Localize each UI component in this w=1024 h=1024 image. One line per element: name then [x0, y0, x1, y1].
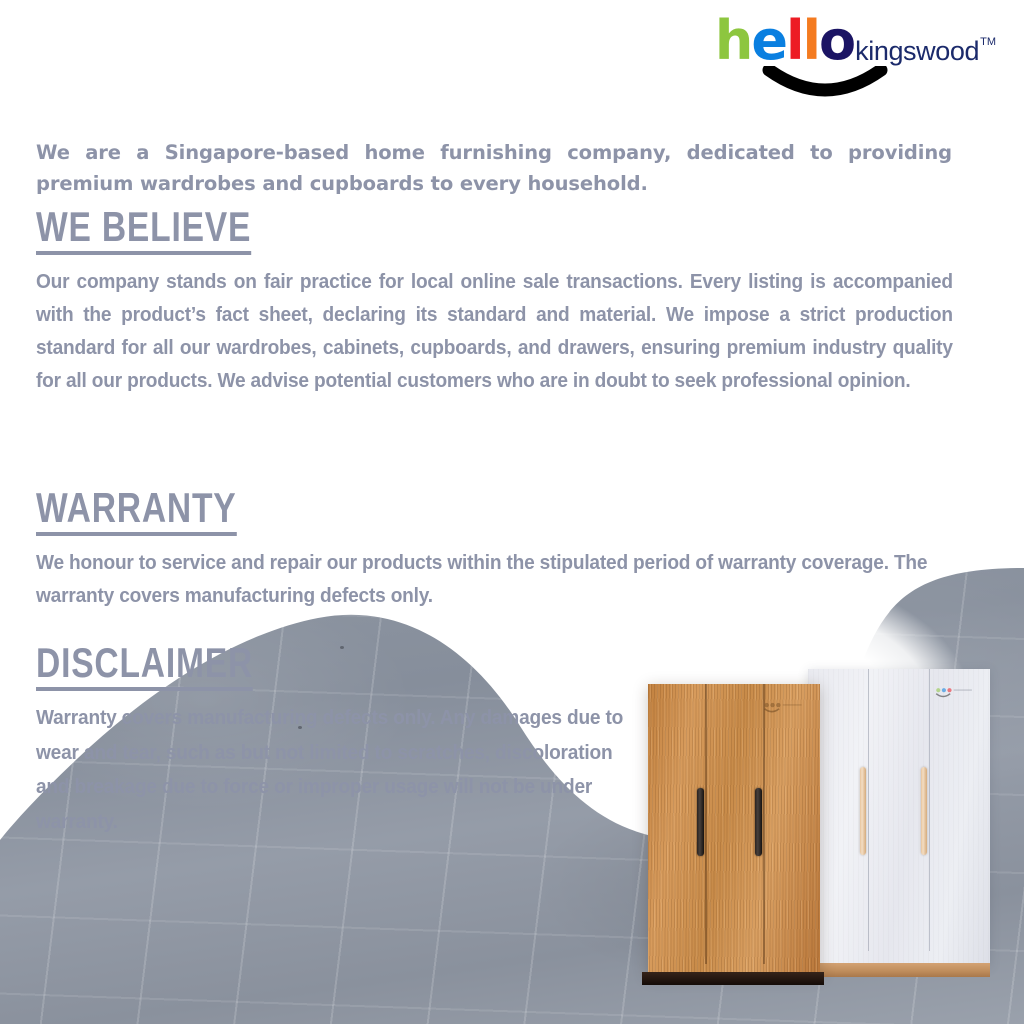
- logo-letter-o: o: [819, 14, 854, 68]
- brand-logo[interactable]: h e l l o kingswood TM: [715, 14, 996, 68]
- logo-wordmark: kingswood: [855, 38, 979, 65]
- logo-letter-h: h: [715, 14, 751, 68]
- body-warranty: We honour to service and repair our prod…: [36, 547, 953, 613]
- section-warranty: WARRANTY We honour to service and repair…: [36, 486, 956, 633]
- intro-paragraph: We are a Singapore-based home furnishing…: [36, 137, 952, 199]
- heading-disclaimer: DISCLAIMER: [36, 641, 253, 691]
- section-disclaimer: DISCLAIMER Warranty covers manufacturing…: [36, 641, 656, 859]
- logo-letter-e: e: [751, 14, 786, 68]
- heading-we-believe: WE BELIEVE: [36, 205, 251, 255]
- body-we-believe: Our company stands on fair practice for …: [36, 266, 953, 398]
- product-glow: [600, 600, 1024, 930]
- brand-logo-row: h e l l o kingswood TM: [715, 14, 996, 68]
- poster-canvas: h e l l o kingswood TM We are a Singapor…: [0, 0, 1024, 1024]
- body-disclaimer: Warranty covers manufacturing defects on…: [36, 701, 647, 839]
- logo-letter-l2: l: [803, 14, 820, 68]
- logo-letter-l1: l: [786, 14, 803, 68]
- logo-trademark: TM: [980, 37, 996, 48]
- section-we-believe: WE BELIEVE Our company stands on fair pr…: [36, 205, 956, 418]
- smile-icon: [761, 66, 889, 102]
- heading-warranty: WARRANTY: [36, 486, 237, 536]
